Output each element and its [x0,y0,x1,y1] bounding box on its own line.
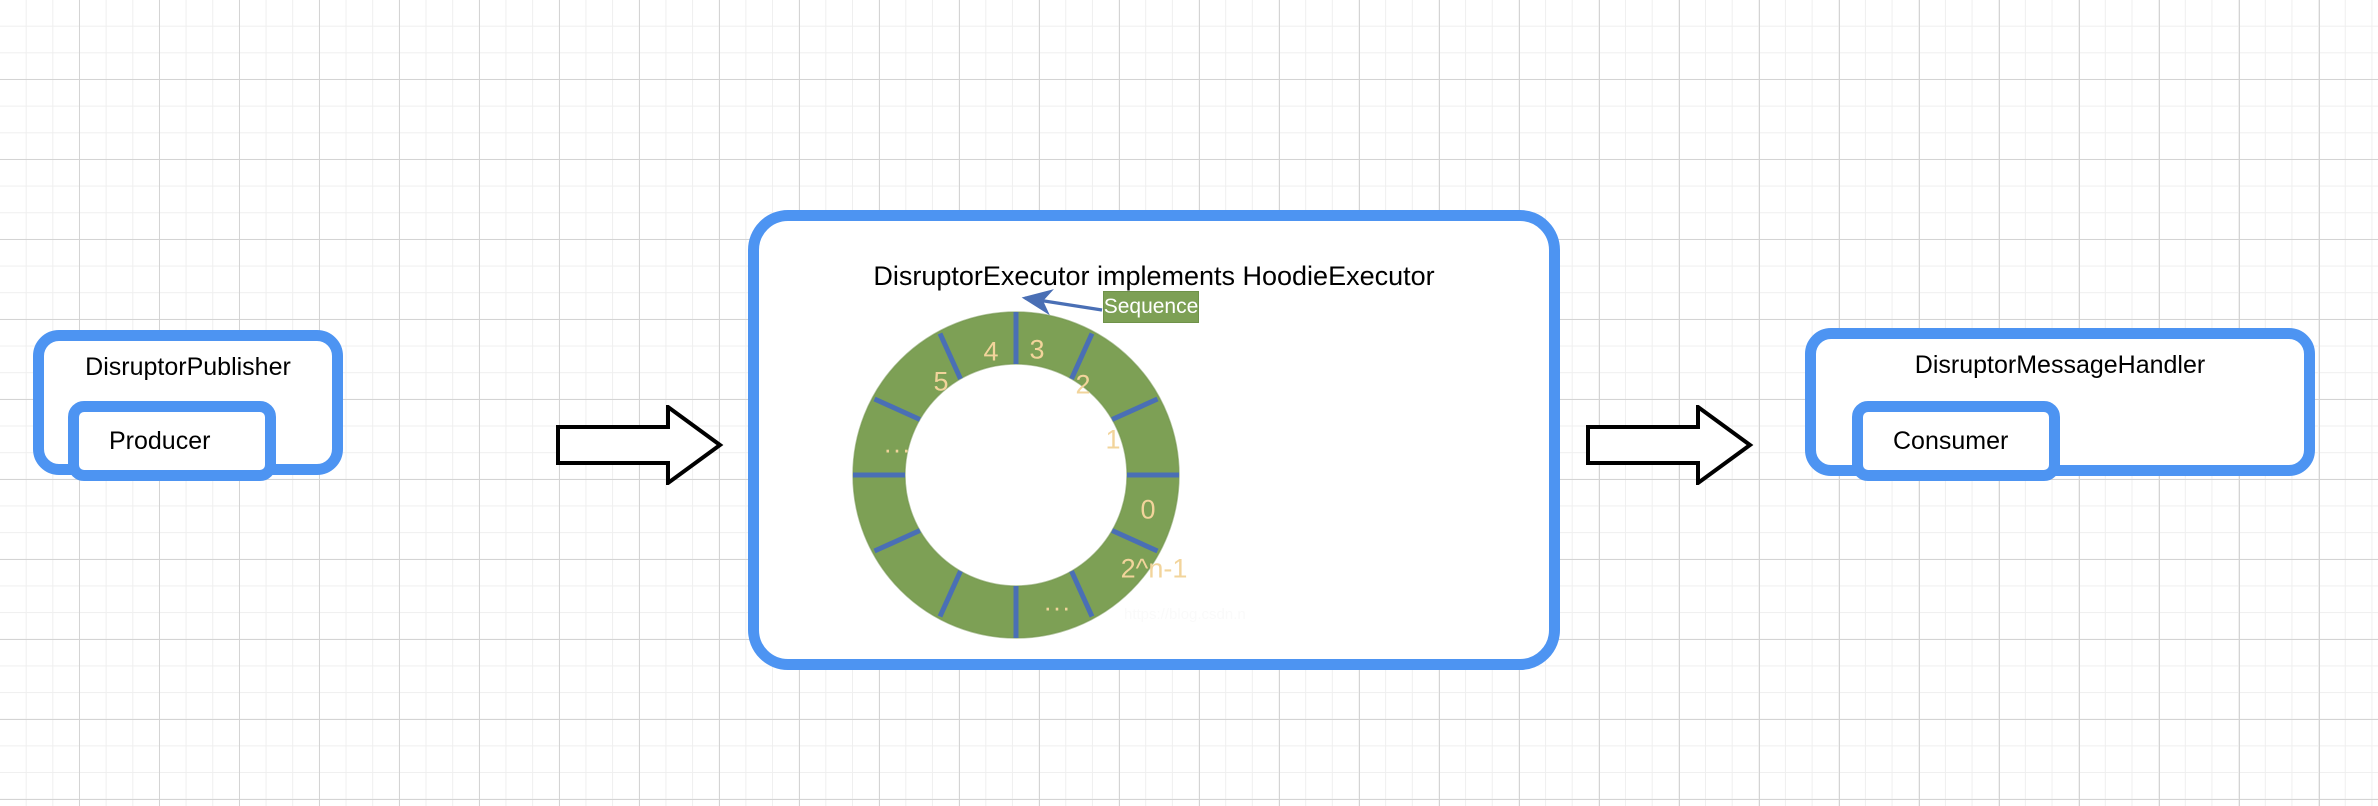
disruptor-executor-box[interactable]: DisruptorExecutor implements HoodieExecu… [748,210,1560,670]
consumer-box[interactable]: Consumer [1852,401,2060,481]
ring-buffer-graphic [851,310,1181,640]
disruptor-publisher-title: DisruptorPublisher [44,353,332,382]
flow-arrow-publisher-to-executor [548,405,728,485]
disruptor-message-handler-box[interactable]: DisruptorMessageHandler Consumer [1805,328,2315,476]
consumer-label: Consumer [1863,427,2008,456]
producer-label: Producer [79,427,210,456]
disruptor-message-handler-title: DisruptorMessageHandler [1816,351,2304,380]
flow-arrow-executor-to-handler [1578,405,1758,485]
diagram-canvas: DisruptorPublisher Producer DisruptorExe… [0,0,2378,806]
disruptor-executor-title: DisruptorExecutor implements HoodieExecu… [759,261,1549,292]
disruptor-publisher-box[interactable]: DisruptorPublisher Producer [33,330,343,475]
watermark-text: https://blog.csdn.n [1124,606,1246,623]
sequence-label: Sequence [1104,295,1199,319]
sequence-box[interactable]: Sequence [1103,291,1199,323]
producer-box[interactable]: Producer [68,401,276,481]
ring-buffer: 0 1 2 3 4 5 ... ... 2^n-1 [851,310,1181,640]
